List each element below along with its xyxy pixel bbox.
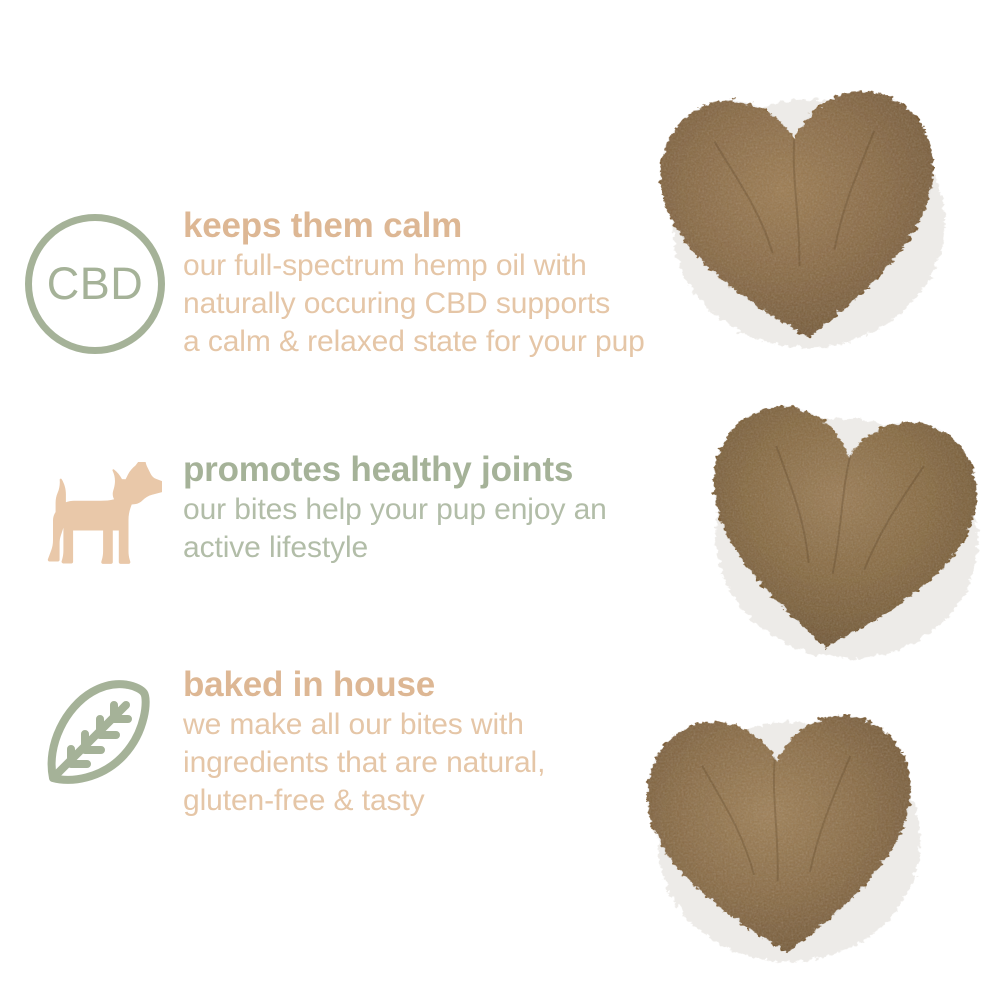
product-benefits-page: CBD keeps them calm our full-spectrum he… bbox=[0, 0, 1000, 1000]
heart-treat-image bbox=[636, 690, 926, 970]
cbd-label: CBD bbox=[25, 214, 165, 354]
cbd-circle-icon: CBD bbox=[25, 214, 165, 354]
feature-text-block: promotes healthy joints our bites help y… bbox=[182, 450, 722, 567]
feature-text-block: baked in house we make all our bites wit… bbox=[182, 665, 642, 820]
feature-body-line: active lifestyle bbox=[183, 529, 722, 567]
feature-promotes-healthy-joints: promotes healthy joints our bites help y… bbox=[22, 450, 722, 567]
feature-title: baked in house bbox=[183, 665, 642, 704]
leaf-icon bbox=[40, 679, 182, 791]
feature-keeps-them-calm: CBD keeps them calm our full-spectrum he… bbox=[22, 206, 752, 361]
feature-title: promotes healthy joints bbox=[183, 450, 722, 489]
feature-icon-slot bbox=[22, 665, 182, 791]
feature-body-line: we make all our bites with bbox=[183, 706, 642, 744]
feature-icon-slot: CBD bbox=[22, 206, 182, 354]
feature-baked-in-house: baked in house we make all our bites wit… bbox=[22, 665, 642, 820]
feature-body-line: our bites help your pup enjoy an bbox=[183, 491, 722, 529]
feature-icon-slot bbox=[22, 450, 182, 566]
heart-treat-image bbox=[650, 66, 950, 356]
feature-body-line: ingredients that are natural, bbox=[183, 744, 642, 782]
feature-body: our bites help your pup enjoy an active … bbox=[183, 491, 722, 567]
heart-treat-image bbox=[695, 385, 985, 665]
feature-body-line: gluten-free & tasty bbox=[183, 782, 642, 820]
feature-body: we make all our bites with ingredients t… bbox=[183, 706, 642, 819]
dog-icon bbox=[36, 462, 182, 566]
